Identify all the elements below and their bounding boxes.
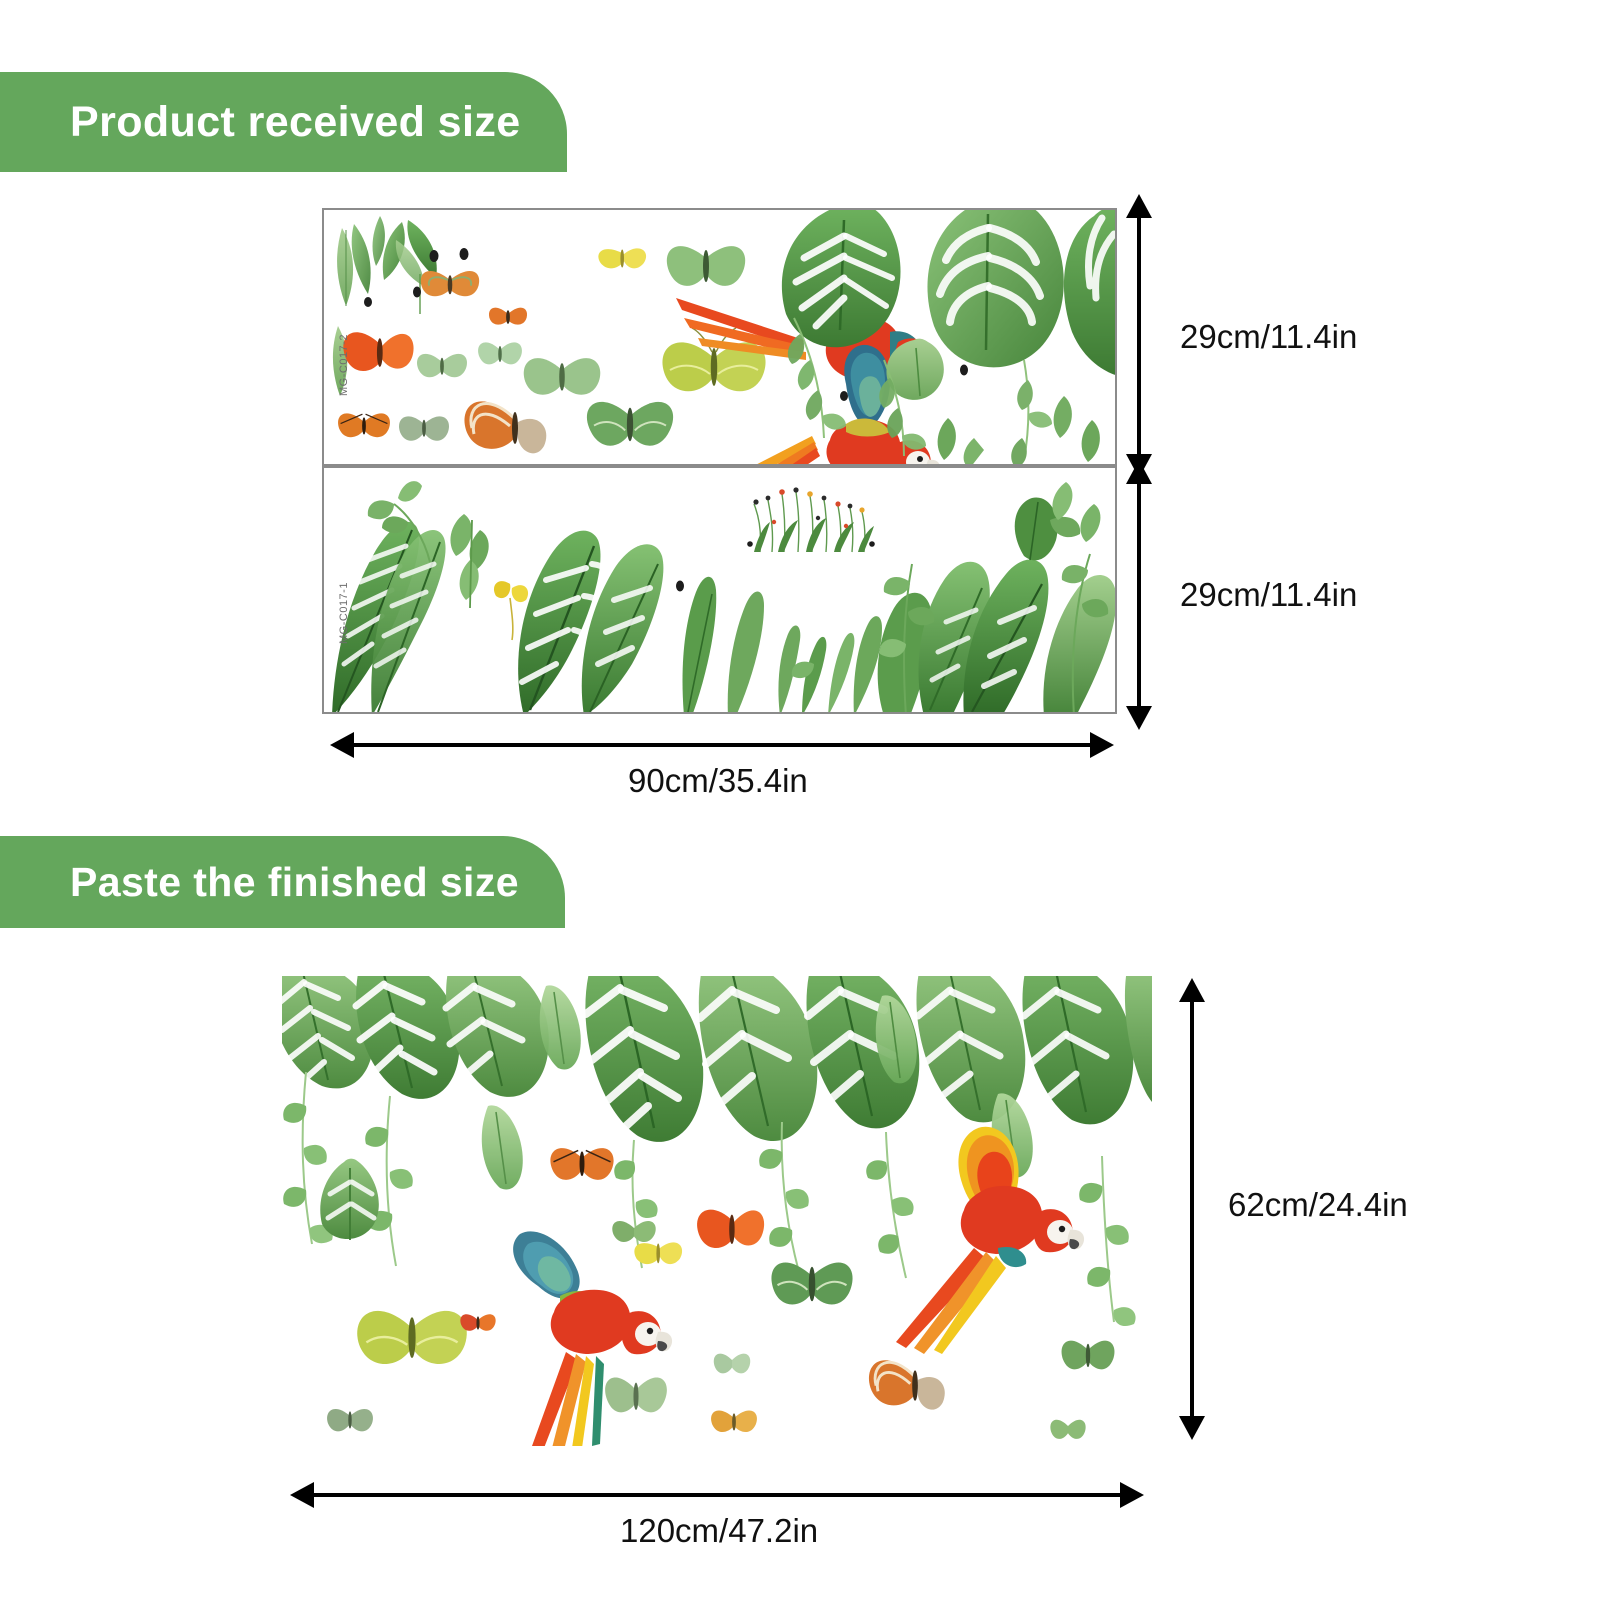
sheet-bottom-artwork: [324, 468, 1117, 714]
butterfly-orange-small: [421, 271, 479, 296]
label-finished-height: 62cm/24.4in: [1228, 1186, 1408, 1224]
banner-product-received-size: Product received size: [0, 72, 567, 172]
product-sheet-bottom: MG-C017-1: [322, 466, 1117, 714]
tropical-mass-right: [828, 482, 1116, 714]
label-bottom-sheet-height: 29cm/11.4in: [1180, 576, 1357, 614]
butterfly-orange-small-lower: [711, 1411, 757, 1433]
butterfly-pale-green-1: [417, 354, 467, 377]
canopy-center: [585, 976, 919, 1142]
butterfly-yellow-center: [634, 1242, 682, 1264]
butterfly-green-top: [667, 246, 745, 286]
butterfly-tiger-large: [464, 401, 546, 453]
grass-blades-center: [778, 625, 826, 714]
monstera-cluster-right: [782, 208, 1117, 466]
butterfly-green-mid: [524, 358, 601, 395]
hanging-vine-3: [1011, 360, 1052, 466]
parrot-right-finished: [896, 1127, 1084, 1354]
slender-leaves-center: [683, 577, 765, 714]
butterfly-green-dark: [771, 1262, 852, 1304]
palmate-leaf-lower-left: [320, 1159, 379, 1240]
butterfly-pale-green-2: [478, 342, 522, 364]
butterfly-orange-tiny: [489, 308, 527, 325]
butterfly-tiny-right-bottom: [1050, 1420, 1085, 1439]
butterfly-tiny-green-center: [714, 1354, 750, 1374]
butterfly-tiger-lower-right: [869, 1360, 945, 1409]
banner-paste-finished-size: Paste the finished size: [0, 836, 565, 928]
butterfly-green-large: [587, 402, 673, 446]
finished-preview-artwork: [282, 976, 1152, 1446]
butterfly-orange-tiny-lower: [460, 1314, 495, 1331]
leaf-cluster-midleft: [450, 514, 488, 608]
butterfly-monarch-upper: [550, 1148, 613, 1180]
butterfly-monarch-small: [338, 413, 390, 437]
hanging-vine-right-b: [866, 1132, 913, 1278]
wildflower-patch: [747, 487, 875, 552]
butterfly-muted-green: [399, 416, 449, 440]
butterfly-yellow-small: [598, 248, 646, 268]
butterfly-pale-green-lower: [605, 1378, 667, 1413]
canopy-left: [282, 976, 549, 1099]
hanging-vine-far-right: [1079, 1156, 1135, 1326]
label-received-width: 90cm/35.4in: [628, 762, 808, 800]
berry-single: [676, 581, 684, 592]
sheet-code-bottom: MG-C017-1: [338, 582, 350, 644]
product-sheet-top: MG-C017-2: [322, 208, 1117, 466]
butterfly-red: [343, 332, 413, 371]
finished-wall-preview: [282, 976, 1152, 1446]
butterfly-orange-mid: [697, 1210, 764, 1248]
banner-received-label: Product received size: [70, 98, 521, 147]
label-finished-width: 120cm/47.2in: [620, 1512, 818, 1550]
butterfly-green-right-edge: [1062, 1341, 1115, 1370]
sheet-code-top: MG-C017-2: [338, 334, 350, 396]
hanging-vine-right-a: [759, 1122, 809, 1276]
butterfly-green-leaf-center: [612, 1221, 655, 1242]
butterfly-muted-lower-left: [327, 1409, 373, 1431]
label-top-sheet-height: 29cm/11.4in: [1180, 318, 1357, 356]
sheet-top-artwork: [324, 210, 1117, 466]
butterfly-chartreuse-lower-left: [357, 1311, 467, 1364]
canopy-right: [916, 976, 1152, 1124]
leaf-cluster-left: [383, 220, 437, 314]
banner-finished-label: Paste the finished size: [70, 859, 519, 906]
leaf-sprig-topleft: [337, 224, 371, 306]
